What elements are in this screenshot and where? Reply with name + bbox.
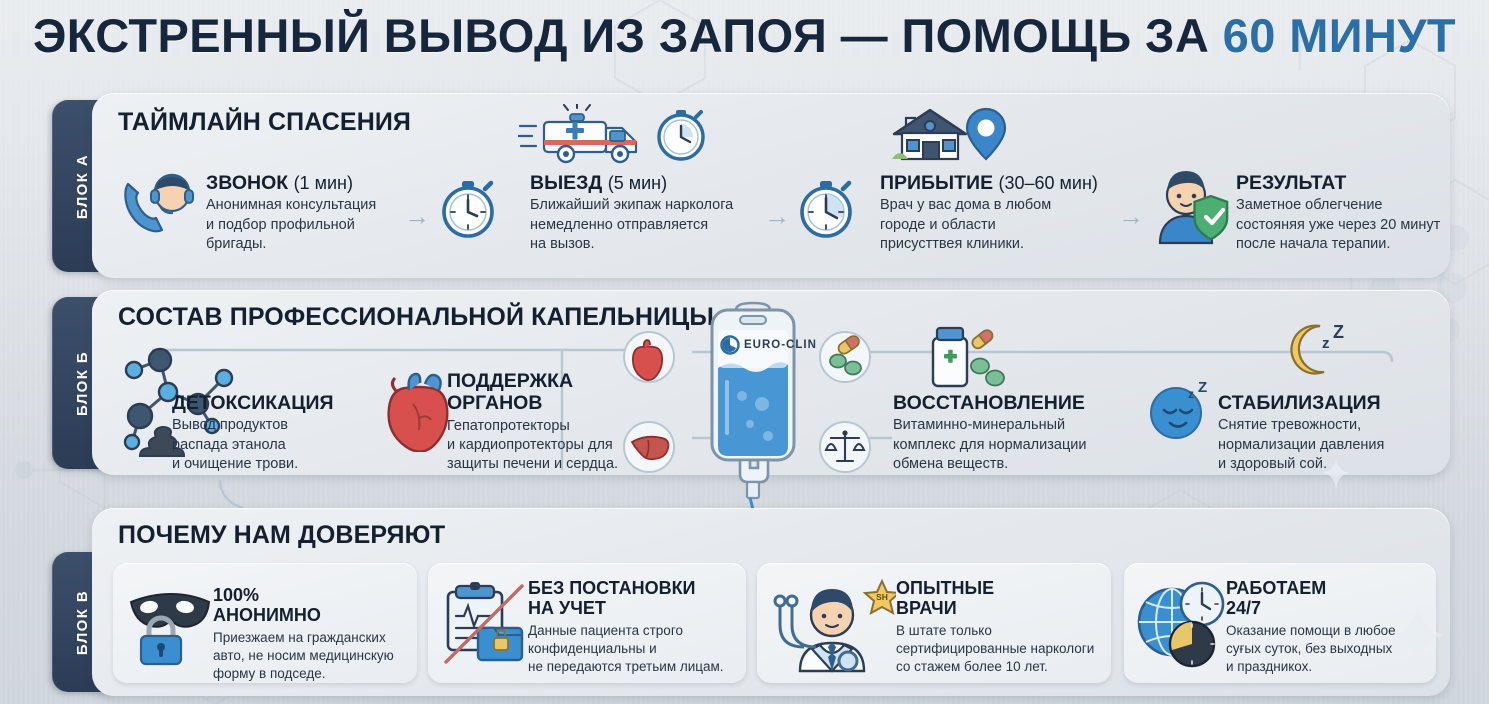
step-3-head: ПРИБЫТИЕ (30–60 мин) <box>880 172 1110 194</box>
arrow-icon-1: → <box>404 203 430 229</box>
doctor-stethoscope-icon: SH <box>770 575 896 673</box>
page-title: ЭКСТРЕННЫЙ ВЫВОД ИЗ ЗАПОЯ — ПОМОЩЬ ЗА 60… <box>0 8 1489 63</box>
component-4-text: СТАБИЛИЗАЦИЯ Снятие тревожности, нормали… <box>1218 392 1448 474</box>
iv-bag-icon: EURO-CLINIC <box>690 300 816 515</box>
trust-card-3-head: ОПЫТНЫЕ ВРАЧИ <box>896 578 1111 619</box>
trust-card-4-body: Оказание помощи в любое суғых суток, без… <box>1226 622 1431 676</box>
person-shield-icon <box>1152 165 1238 245</box>
clipboard-crossed-icon <box>440 582 532 668</box>
svg-text:Z: Z <box>1198 380 1207 396</box>
step-3-time: (30–60 мин) <box>999 173 1098 193</box>
trust-card-4-head: РАБОТАЕМ 24/7 <box>1226 578 1431 619</box>
step-1-head: ЗВОНОК (1 мин) <box>206 172 396 194</box>
trust-card-3-text: ОПЫТНЫЕ ВРАЧИ В штате только сертифициро… <box>896 578 1111 676</box>
block-tab-a-label: БЛОК А <box>75 153 92 218</box>
page-title-main: ЭКСТРЕННЫЙ ВЫВОД ИЗ ЗАПОЯ — ПОМОЩЬ ЗА <box>33 9 1223 62</box>
arrow-icon-2: → <box>764 203 790 229</box>
step-4-text: РЕЗУЛЬТАТ Заметное облегчение состояняя … <box>1236 172 1456 254</box>
step-2-head: ВЫЕЗД (5 мин) <box>530 172 750 194</box>
infographic-canvas: ЭКСТРЕННЫЙ ВЫВОД ИЗ ЗАПОЯ — ПОМОЩЬ ЗА 60… <box>0 0 1489 704</box>
sleeping-face-icon: z Z <box>1146 380 1216 442</box>
ambulance-stopwatch-icon <box>518 104 718 166</box>
arrow-icon-3: → <box>1118 203 1144 229</box>
component-1-body: Вывод продуктов распада этанола и очищен… <box>172 416 382 474</box>
step-1-text: ЗВОНОК (1 мин) Анонимная консультация и … <box>206 172 396 254</box>
page-title-accent: 60 МИНУТ <box>1223 9 1456 62</box>
step-1-body: Анонимная консультация и подбор профильн… <box>206 196 396 254</box>
scales-icon <box>818 420 872 474</box>
step-3-text: ПРИБЫТИЕ (30–60 мин) Врач у вас дома в л… <box>880 172 1110 254</box>
moon-icon: z Z <box>1280 318 1356 380</box>
trust-card-2-head: БЕЗ ПОСТАНОВКИ НА УЧЕТ <box>528 578 743 619</box>
step-1-time: (1 мин) <box>294 173 353 193</box>
globe-clock-icon <box>1134 578 1230 672</box>
component-4-head: СТАБИЛИЗАЦИЯ <box>1218 392 1448 414</box>
mask-lock-icon <box>127 588 213 666</box>
stopwatch-icon-1 <box>437 178 499 240</box>
medicine-bottle-pills-icon <box>925 322 1009 394</box>
step-4-body: Заметное облегчение состояняя уже через … <box>1236 196 1456 254</box>
stopwatch-icon-2 <box>795 178 857 240</box>
step-2-title: ВЫЕЗД <box>530 172 602 194</box>
trust-card-2-body: Данные пациента строго конфиденциальны и… <box>528 622 743 676</box>
trust-card-3-body: В штате только сертифицированные нарколо… <box>896 622 1111 676</box>
doctor-badge-label: SH <box>876 592 888 602</box>
svg-text:Z: Z <box>1333 322 1344 342</box>
trust-card-2-text: БЕЗ ПОСТАНОВКИ НА УЧЕТ Данные пациента с… <box>528 578 743 676</box>
anatomical-heart-icon <box>383 368 457 452</box>
svg-text:z: z <box>1322 335 1330 352</box>
component-3-body: Витаминно-минеральный комплекс для норма… <box>893 416 1133 474</box>
step-3-body: Врач у вас дома в любом городе и области… <box>880 196 1110 254</box>
phone-headset-icon <box>118 168 196 238</box>
step-3-title: ПРИБЫТИЕ <box>880 172 993 194</box>
iv-bag-label: EURO-CLINIC <box>744 339 816 351</box>
liver-icon <box>622 420 676 474</box>
component-3-text: ВОССТАНОВЛЕНИЕ Витаминно-минеральный ком… <box>893 392 1133 474</box>
component-4-body: Снятие тревожности, нормализации давлени… <box>1218 416 1448 474</box>
pills-icon <box>818 330 872 384</box>
step-4-head: РЕЗУЛЬТАТ <box>1236 172 1456 194</box>
component-1-head: ДЕТОКСИКАЦИЯ <box>172 392 382 414</box>
heart-icon <box>622 330 676 384</box>
svg-text:z: z <box>1188 387 1194 401</box>
block-c-title: ПОЧЕМУ НАМ ДОВЕРЯЮТ <box>118 521 445 550</box>
trust-card-1-text: 100% АНОНИМНО Приезжаем на гражданских а… <box>213 585 413 683</box>
trust-card-1-head: 100% АНОНИМНО <box>213 585 413 626</box>
block-a-title: ТАЙМЛАЙН СПАСЕНИЯ <box>118 108 411 137</box>
step-4-title: РЕЗУЛЬТАТ <box>1236 172 1346 194</box>
component-3-head: ВОССТАНОВЛЕНИЕ <box>893 392 1133 414</box>
house-pin-icon <box>886 104 1016 164</box>
step-2-text: ВЫЕЗД (5 мин) Ближайший экипаж нарколога… <box>530 172 750 254</box>
block-tab-b-label: БЛОК Б <box>75 350 92 415</box>
step-1-title: ЗВОНОК <box>206 172 288 194</box>
step-2-time: (5 мин) <box>608 173 667 193</box>
step-2-body: Ближайший экипаж нарколога немедленно от… <box>530 196 750 254</box>
component-1-text: ДЕТОКСИКАЦИЯ Вывод продуктов распада эта… <box>172 392 382 474</box>
block-tab-c-label: БЛОК В <box>75 589 92 654</box>
trust-card-4-text: РАБОТАЕМ 24/7 Оказание помощи в любое су… <box>1226 578 1431 676</box>
trust-card-1-body: Приезжаем на гражданских авто, не носим … <box>213 629 413 683</box>
